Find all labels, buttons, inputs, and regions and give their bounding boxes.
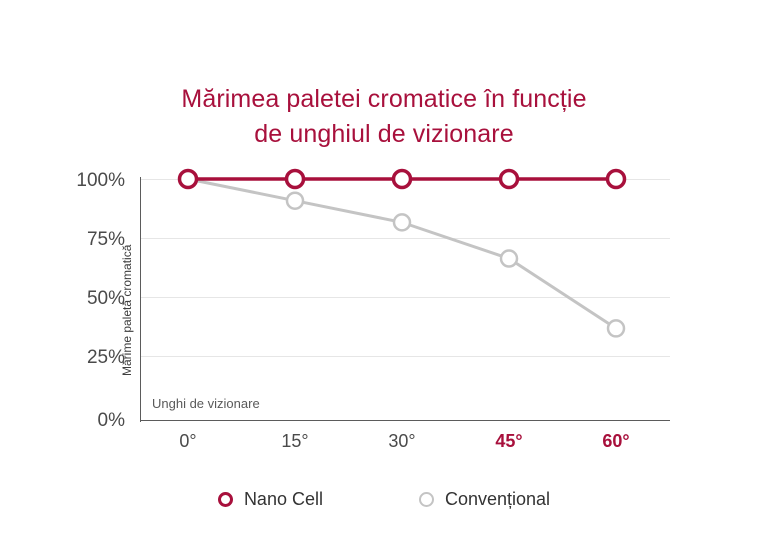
- circle-marker-icon: [218, 492, 233, 507]
- data-point-nano-cell[interactable]: [394, 171, 411, 188]
- data-point-conventional[interactable]: [501, 251, 517, 267]
- data-point-nano-cell[interactable]: [501, 171, 518, 188]
- legend-item-nano-cell[interactable]: Nano Cell: [218, 488, 323, 510]
- legend: Nano Cell Convențional: [0, 488, 768, 510]
- legend-label-nano-cell: Nano Cell: [244, 488, 323, 510]
- series-nano-cell: [180, 171, 625, 188]
- chart-container: Mărimea paletei cromatice în funcție de …: [0, 0, 768, 560]
- series-conventional-line: [188, 179, 616, 328]
- data-point-conventional[interactable]: [394, 214, 410, 230]
- data-point-conventional[interactable]: [287, 193, 303, 209]
- data-point-nano-cell[interactable]: [180, 171, 197, 188]
- legend-item-conventional[interactable]: Convențional: [419, 488, 550, 510]
- legend-label-conventional: Convențional: [445, 488, 550, 510]
- series-conventional: [180, 171, 624, 336]
- series-layer: [0, 0, 768, 560]
- circle-marker-icon: [419, 492, 434, 507]
- data-point-nano-cell[interactable]: [608, 171, 625, 188]
- data-point-nano-cell[interactable]: [287, 171, 304, 188]
- data-point-conventional[interactable]: [608, 320, 624, 336]
